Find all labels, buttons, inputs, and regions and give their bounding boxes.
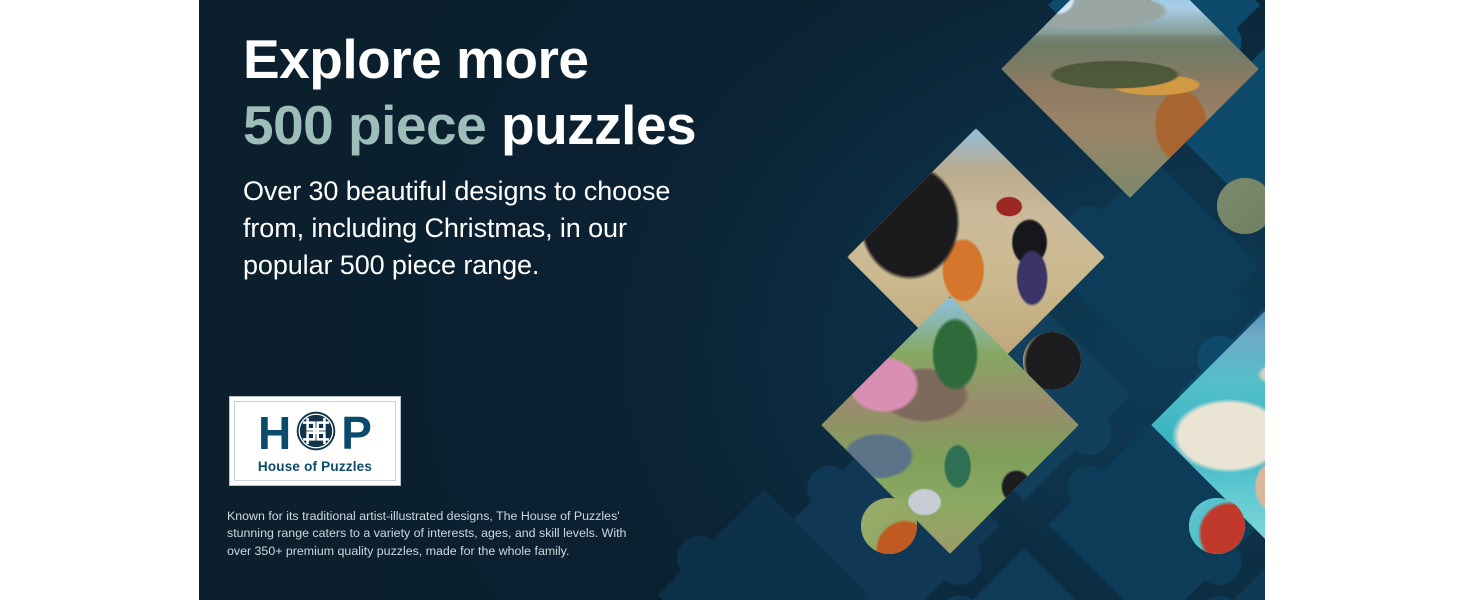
logo-wordmark: House of Puzzles xyxy=(258,459,372,474)
headline-line-2-rest: puzzles xyxy=(486,94,696,156)
lido-piece-tab-swimmer xyxy=(1189,498,1245,554)
logo-letter-h: H xyxy=(258,410,291,456)
banner-text-content: Explore more 500 piece puzzles Over 30 b… xyxy=(199,0,759,600)
cottage-piece-tab-hens xyxy=(861,498,917,554)
headline-accent: 500 piece xyxy=(243,94,486,156)
promo-banner: Explore more 500 piece puzzles Over 30 b… xyxy=(199,0,1265,600)
headline-line-1: Explore more xyxy=(243,28,589,90)
subheading: Over 30 beautiful designs to choose from… xyxy=(243,173,713,284)
celtic-knot-icon xyxy=(295,410,337,457)
logo-letter-p: P xyxy=(341,410,372,456)
footnote-text: Known for its traditional artist-illustr… xyxy=(227,508,627,560)
house-of-puzzles-logo: H xyxy=(229,396,401,486)
page-title: Explore more 500 piece puzzles xyxy=(243,26,763,158)
aircraft-piece-tab xyxy=(1217,178,1265,234)
